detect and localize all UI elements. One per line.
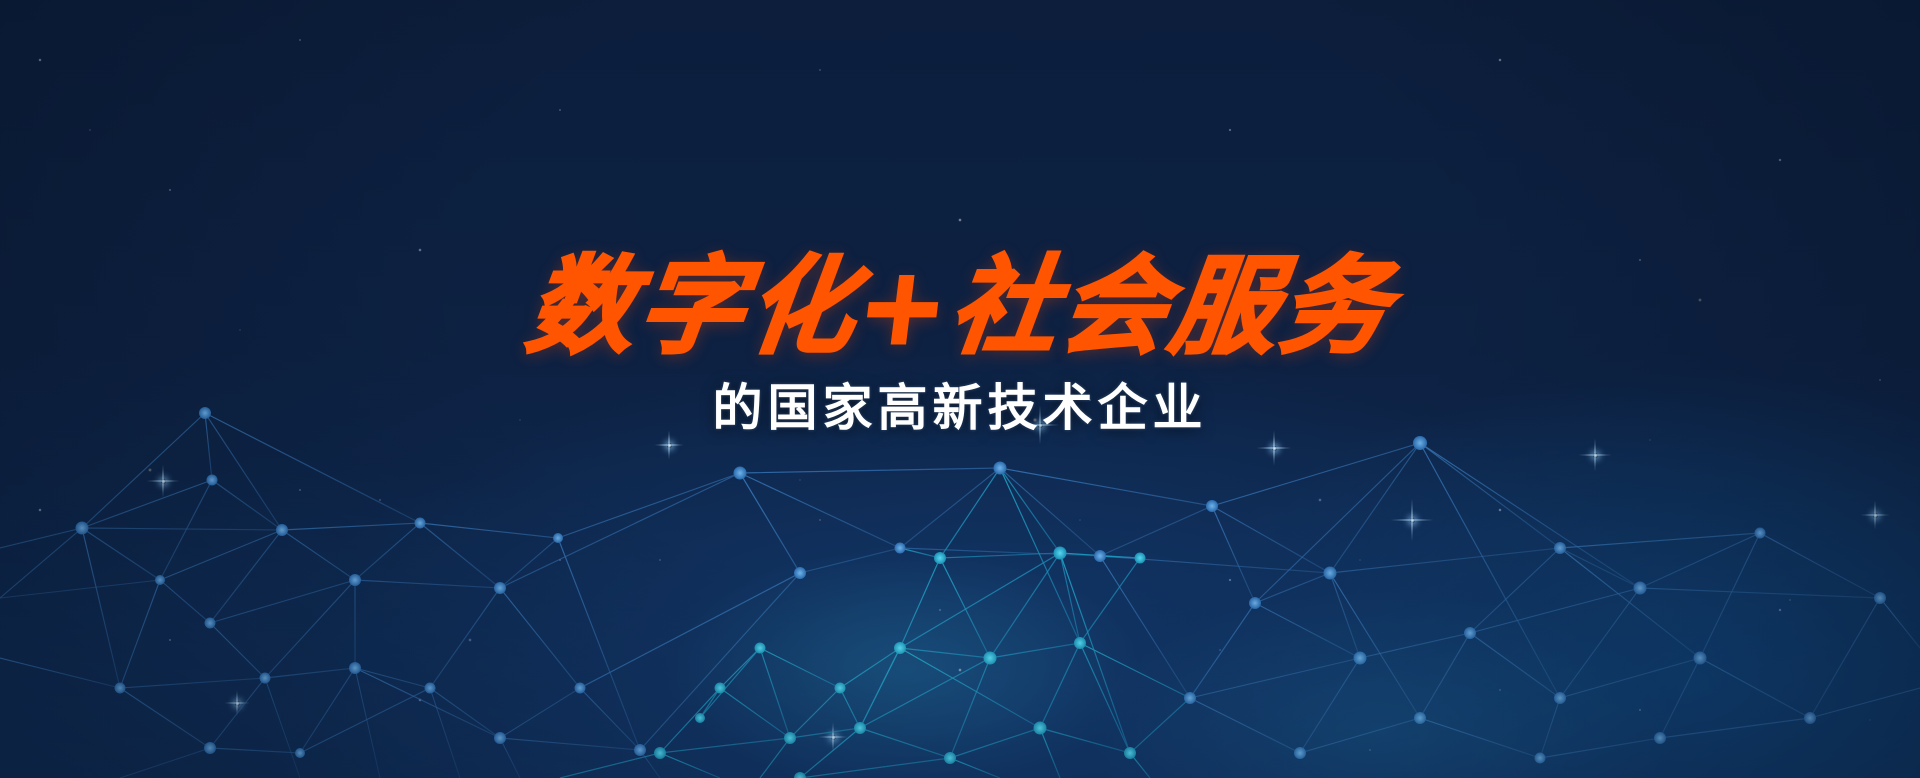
banner-title: 数字化+社会服务 [0,250,1920,364]
headline-block: 数字化+社会服务 的国家高新技术企业 [0,250,1920,438]
banner-subtitle: 的国家高新技术企业 [0,378,1920,438]
hero-banner: 数字化+社会服务 的国家高新技术企业 [0,0,1920,778]
